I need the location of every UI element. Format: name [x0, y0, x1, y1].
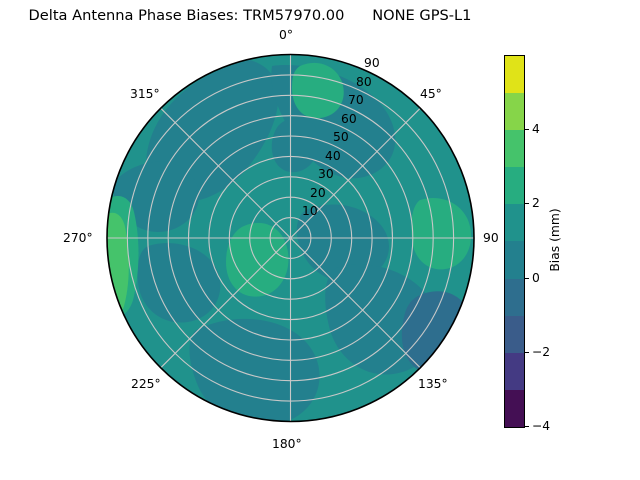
theta-tick-225: 225°: [131, 377, 161, 391]
colorbar-ticklabel-neg4: −4: [532, 419, 550, 433]
colorbar: [504, 55, 525, 428]
theta-tick-90: 90: [483, 231, 499, 245]
theta-tick-315: 315°: [130, 87, 160, 101]
colorbar-tick-neg2: [525, 352, 529, 353]
r-tick-40: 40: [325, 149, 341, 163]
colorbar-ticklabel-neg2: −2: [532, 345, 550, 359]
colorbar-tick-2: [525, 203, 529, 204]
r-tick-20: 20: [310, 186, 326, 200]
colorbar-band: [505, 167, 524, 204]
colorbar-band: [505, 130, 524, 167]
colorbar-axis-label: Bias (mm): [548, 208, 562, 271]
r-tick-50: 50: [333, 130, 349, 144]
colorbar-band: [505, 204, 524, 241]
colorbar-band: [505, 353, 524, 390]
theta-tick-45: 45°: [420, 87, 442, 101]
theta-tick-270: 270°: [63, 231, 93, 245]
theta-tick-180: 180°: [272, 437, 302, 451]
r-tick-60: 60: [341, 112, 357, 126]
colorbar-band: [505, 390, 524, 427]
colorbar-tick-4: [525, 129, 529, 130]
colorbar-band: [505, 316, 524, 353]
theta-tick-135: 135°: [418, 377, 448, 391]
colorbar-band: [505, 56, 524, 93]
colorbar-band: [505, 93, 524, 130]
colorbar-band: [505, 279, 524, 316]
colorbar-tick-0: [525, 278, 529, 279]
r-tick-30: 30: [318, 167, 334, 181]
colorbar-tick-neg4: [525, 426, 529, 427]
figure-canvas: Delta Antenna Phase Biases: TRM57970.00 …: [0, 0, 640, 480]
theta-tick-0: 0°: [279, 28, 293, 42]
colorbar-ticklabel-4: 4: [532, 122, 540, 136]
r-tick-90: 90: [364, 56, 380, 70]
polar-plot-svg: [0, 0, 640, 480]
polar-axes: 0° 45° 90 135° 180° 225° 270° 315° 10 20…: [0, 0, 640, 480]
r-tick-80: 80: [356, 75, 372, 89]
r-tick-10: 10: [302, 204, 318, 218]
colorbar-ticklabel-0: 0: [532, 271, 540, 285]
colorbar-ticklabel-2: 2: [532, 196, 540, 210]
r-tick-70: 70: [348, 93, 364, 107]
polar-grid-spokes: [107, 55, 474, 422]
colorbar-band: [505, 241, 524, 278]
